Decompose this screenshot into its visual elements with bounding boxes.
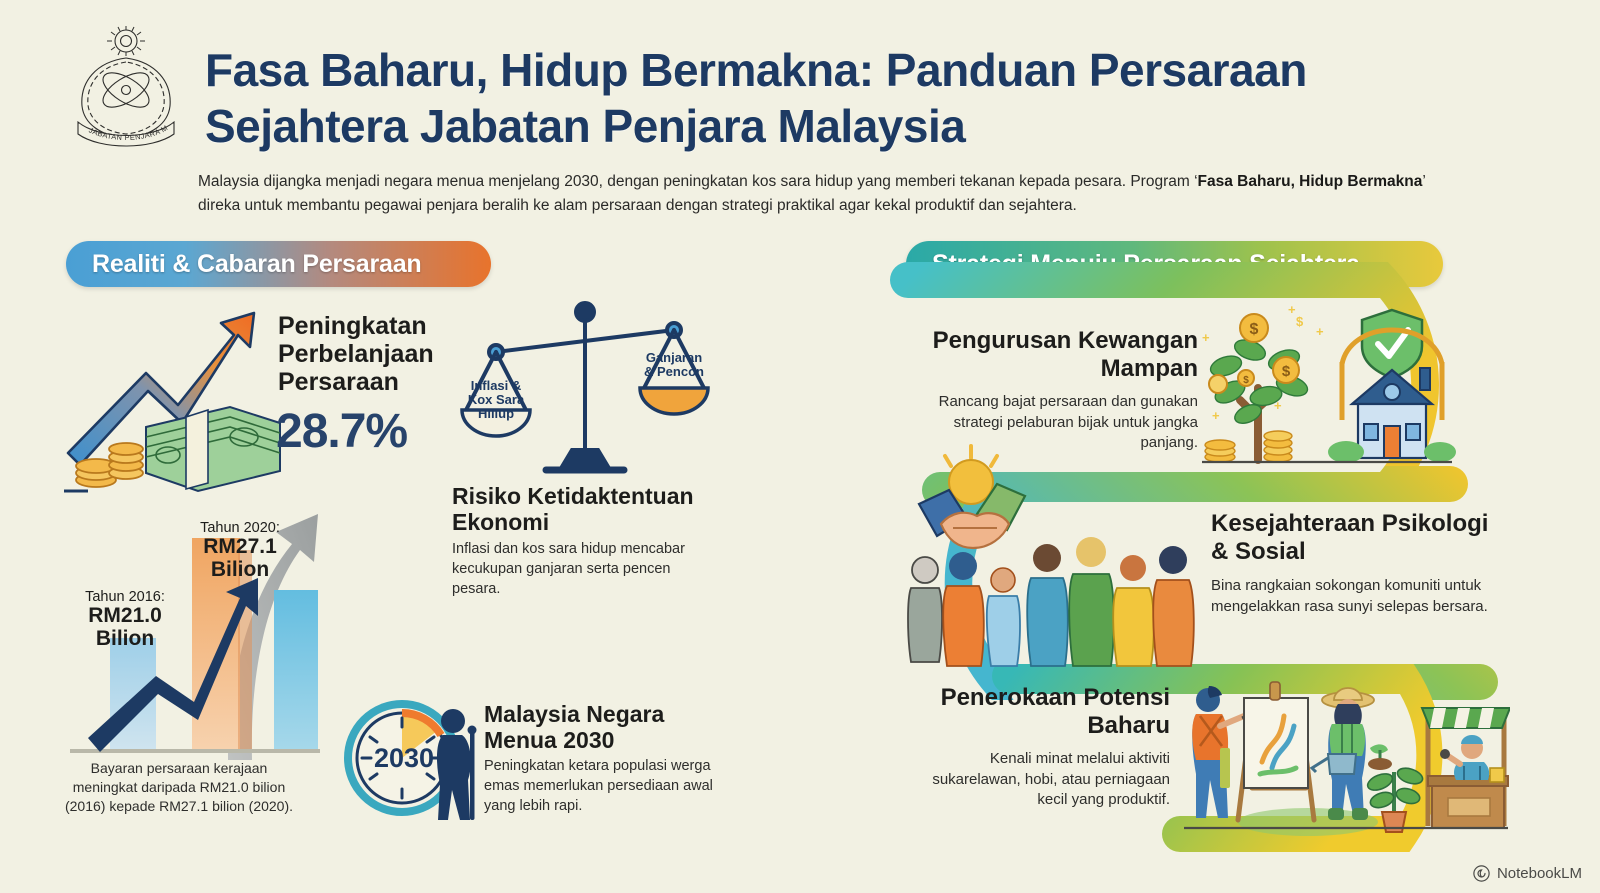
strategy-1-illustration-finance: +++ ++ $ [1196,300,1456,475]
strategy-2-body: Bina rangkaian sokongan komuniti untuk m… [1211,576,1491,617]
infographic-root: JABATAN PENJARA MALAYSIA Fasa Baharu, Hi… [0,0,1600,893]
scale-left-label-2: Kox Sara [468,392,525,407]
page-title: Fasa Baharu, Hidup Bermakna: Panduan Per… [205,42,1435,154]
section-header-realiti-label: Realiti & Cabaran Persaraan [92,250,421,279]
svg-text:+: + [1316,324,1324,339]
menua-title: Malaysia Negara Menua 2030 [484,701,719,753]
notebooklm-spiral-icon [1473,865,1490,882]
bar-label-2020: Tahun 2020: RM27.1 Bilion [175,520,305,581]
bar-label-2016-unit: Bilion [62,628,188,651]
notebooklm-watermark: NotebookLM [1473,865,1582,882]
bar-label-2020-year: Tahun 2020: [175,520,305,536]
strategy-3-body: Kenali minat melalui aktiviti sukarelawa… [905,749,1170,811]
strategy-2-illustration-community [905,440,1205,670]
bar-label-2016-year: Tahun 2016: [62,589,188,605]
aging-clock-illustration: 2030 [340,688,480,828]
svg-text:$: $ [1243,375,1249,386]
intro-text-part1: Malaysia dijangka menjadi negara menua m… [198,173,1198,190]
strategy-1-title: Pengurusan Kewangan Mampan [905,327,1198,382]
bar-chart-caption: Bayaran persaraan kerajaan meningkat dar… [58,759,300,815]
intro-text-bold: Fasa Baharu, Hidup Bermakna [1198,173,1423,190]
section-header-realiti: Realiti & Cabaran Persaraan [66,241,491,287]
scale-left-label-1: Inflasi & [471,378,522,393]
svg-text:$: $ [1282,363,1291,380]
scale-right-label-2: & Pencon [644,364,704,379]
money-growth-illustration [58,295,288,495]
bar-label-2016-value: RM21.0 [62,605,188,628]
intro-paragraph: Malaysia dijangka menjadi negara menua m… [198,170,1460,217]
svg-text:+: + [1288,302,1296,317]
risiko-title: Risiko Ketidaktentuan Ekonomi [452,483,742,535]
svg-text:+: + [1202,330,1210,345]
scale-right-label-1: Ganjaran [646,350,702,365]
menua-body: Peningkatan ketara populasi werga emas m… [484,757,729,817]
strategy-3-illustration-newpotential [1180,676,1510,841]
risiko-body: Inflasi dan kos sara hidup mencabar kecu… [452,540,707,600]
balance-scale-illustration: Inflasi & Kox Sara Hiilup Ganjaran & Pen… [460,300,710,500]
bar-label-2016: Tahun 2016: RM21.0 Bilion [62,589,188,650]
strategy-2-title: Kesejahteraan Psikologi & Sosial [1211,510,1511,565]
scale-left-label-3: Hiilup [478,406,514,421]
stat-title-perbelanjaan: Peningkatan Perbelanjaan Persaraan [278,312,458,396]
strategy-3-title: Penerokaan Potensi Baharu [905,684,1170,739]
notebooklm-watermark-label: NotebookLM [1497,865,1582,882]
jabatan-penjara-malaysia-crest-icon: JABATAN PENJARA MALAYSIA [66,24,186,152]
bar-label-2020-value: RM27.1 [175,536,305,559]
svg-text:$: $ [1296,314,1304,329]
clock-year-label: 2030 [374,743,434,773]
bar-label-2020-unit: Bilion [175,559,305,582]
svg-text:+: + [1212,408,1220,423]
svg-text:$: $ [1250,321,1259,338]
